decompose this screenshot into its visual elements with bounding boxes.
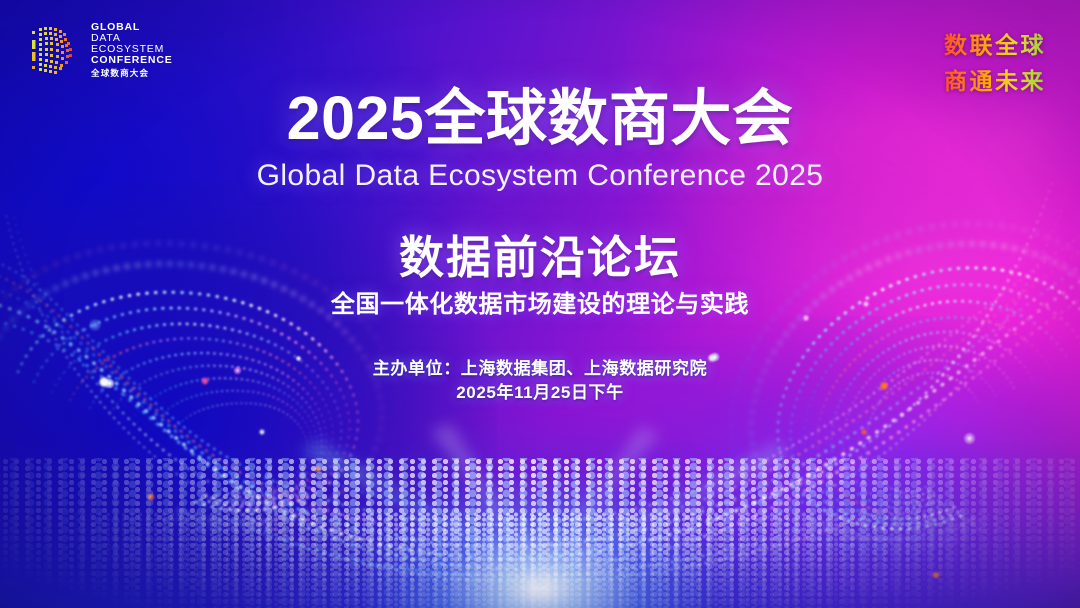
bokeh-dot <box>963 432 976 445</box>
background-floor-glow <box>0 438 1080 608</box>
particle-floor-grid-fine <box>0 512 1080 608</box>
forum-title: 数据前沿论坛 <box>399 235 681 280</box>
organizer-line: 主办单位：上海数据集团、上海数据研究院 <box>373 360 707 377</box>
event-title-english: Global Data Ecosystem Conference 2025 <box>257 161 824 191</box>
date-line: 2025年11月25日下午 <box>456 384 624 401</box>
forum-subtitle: 全国一体化数据市场建设的理论与实践 <box>331 293 749 317</box>
conference-banner: GLOBAL DATA ECOSYSTEM CONFERENCE 全球数商大会 … <box>0 0 1080 608</box>
particle-floor-grid <box>0 458 1080 608</box>
event-title-chinese: 2025全球数商大会 <box>287 88 794 149</box>
event-meta: 主办单位：上海数据集团、上海数据研究院 2025年11月25日下午 <box>373 360 707 401</box>
hero-content: 2025全球数商大会 Global Data Ecosystem Confere… <box>0 0 1080 401</box>
center-light-burst <box>248 401 831 608</box>
